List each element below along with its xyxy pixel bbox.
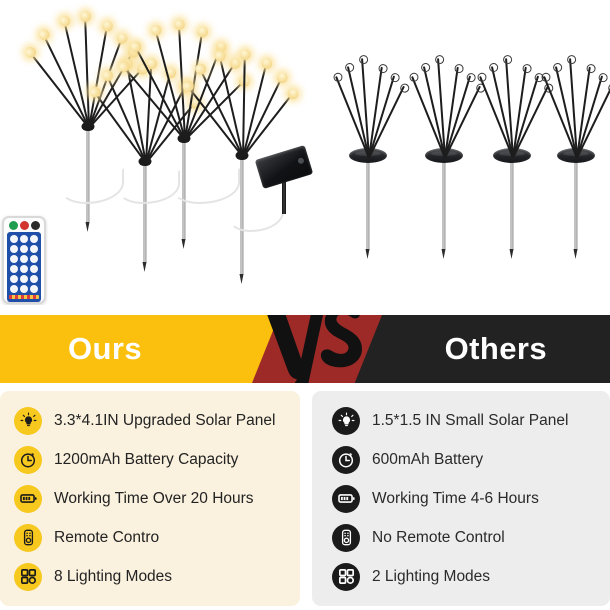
feature-row: 3.3*4.1IN Upgraded Solar Panel [0,401,300,440]
stake-pole [575,158,578,250]
firefly-bulb-unlit [454,63,464,73]
ours-title: Ours [68,315,142,383]
remote-keypad [7,232,41,302]
firefly-bulb-unlit [606,82,610,94]
others-column: 1.5*1.5 IN Small Solar Panel 600mAh Batt… [312,391,610,606]
firefly-bulb-unlit [408,72,420,84]
solar-panel-unit [258,152,314,214]
remote-control-icon [332,524,360,552]
remote-control [2,216,46,304]
remote-color-strip [9,295,39,299]
firefly-bulb [58,15,71,28]
solar-panel-board [255,145,313,189]
remote-top-buttons [7,221,41,230]
remote-mode-button [20,221,29,230]
firefly-bulb-unlit [502,55,512,65]
vs-banner: Ours Others [0,315,610,383]
firefly-bulb-unlit [389,72,400,83]
firefly-bulb-unlit [597,72,608,83]
feature-row: 8 Lighting Modes [0,557,300,596]
firefly-bulb [101,20,114,33]
lighting-modes-icon [14,563,42,591]
feature-row: No Remote Control [312,518,610,557]
solar-panel-stake [282,178,286,214]
feature-text: No Remote Control [372,529,505,547]
firefly-stem [134,46,186,141]
remote-key-row [9,245,39,253]
remote-key-row [9,265,39,273]
others-title: Others [445,315,547,383]
firefly-bulb [149,24,162,37]
firefly-bulb [285,86,300,101]
remote-key-row [9,235,39,243]
firefly-bulb [80,11,91,22]
feature-text: 8 Lighting Modes [54,568,172,586]
feature-row: 1.5*1.5 IN Small Solar Panel [312,401,610,440]
feature-text: Working Time Over 20 Hours [54,490,254,508]
feature-row: 2 Lighting Modes [312,557,610,596]
firefly-bulb-unlit [378,63,388,73]
remote-key-row [9,285,39,293]
stake-pole [511,158,514,250]
firefly-bulb-unlit [552,62,563,73]
firefly-bulb-unlit [358,55,368,65]
firefly-bulb [174,19,186,31]
unlit-stake-light [406,45,482,250]
remote-key-row [9,255,39,263]
feature-row: Remote Contro [0,518,300,557]
firefly-stem [368,75,395,158]
firefly-bulb-unlit [522,63,532,73]
battery-icon [332,485,360,513]
lightbulb-icon [332,407,360,435]
lighting-modes-icon [332,563,360,591]
remote-off-button [31,221,40,230]
vs-brush-logo [252,315,380,383]
battery-icon [14,485,42,513]
remote-power-button [9,221,18,230]
firefly-bulb-unlit [476,72,488,84]
clock-icon [332,446,360,474]
feature-text: 1.5*1.5 IN Small Solar Panel [372,412,568,430]
firefly-bulb [37,27,52,42]
stake-pole [443,158,446,250]
firefly-bulb [214,49,227,62]
firefly-bulb-unlit [434,55,444,65]
feature-text: Remote Contro [54,529,159,547]
remote-key-row [9,275,39,283]
comparison-table: 3.3*4.1IN Upgraded Solar Panel 1200mAh B… [0,391,610,610]
product-photo [0,0,610,305]
firefly-bulb [23,45,38,60]
comparison-infographic: Ours Others 3.3*4.1IN Upgrad [0,0,610,610]
firefly-bulb [260,57,273,70]
feature-text: 3.3*4.1IN Upgraded Solar Panel [54,412,275,430]
ours-column: 3.3*4.1IN Upgraded Solar Panel 1200mAh B… [0,391,300,606]
feature-row: Working Time Over 20 Hours [0,479,300,518]
unlit-stake-light [538,45,610,250]
feature-text: Working Time 4-6 Hours [372,490,539,508]
firefly-stem [576,75,603,158]
firefly-stem [512,75,539,158]
firefly-bulb-unlit [488,62,499,73]
firefly-bulb [115,31,129,45]
clock-icon [14,446,42,474]
feature-row: Working Time 4-6 Hours [312,479,610,518]
unlit-stake-light [330,45,406,250]
firefly-stem [43,34,90,128]
firefly-stem [242,77,283,158]
firefly-bulb-unlit [566,55,576,65]
stake-pole [367,158,370,250]
firefly-stem [199,68,244,157]
remote-control-icon [14,524,42,552]
lightbulb-icon [14,407,42,435]
firefly-stem [444,75,471,158]
firefly-bulb-unlit [420,62,431,73]
feature-text: 1200mAh Battery Capacity [54,451,238,469]
firefly-bulb [275,70,290,85]
firefly-bulb-unlit [332,72,344,84]
feature-row: 1200mAh Battery Capacity [0,440,300,479]
firefly-bulb-unlit [540,72,552,84]
firefly-bulb-unlit [586,63,596,73]
feature-row: 600mAh Battery [312,440,610,479]
firefly-bulb-unlit [344,62,355,73]
feature-text: 600mAh Battery [372,451,483,469]
firefly-bulb [240,49,251,60]
feature-text: 2 Lighting Modes [372,568,490,586]
